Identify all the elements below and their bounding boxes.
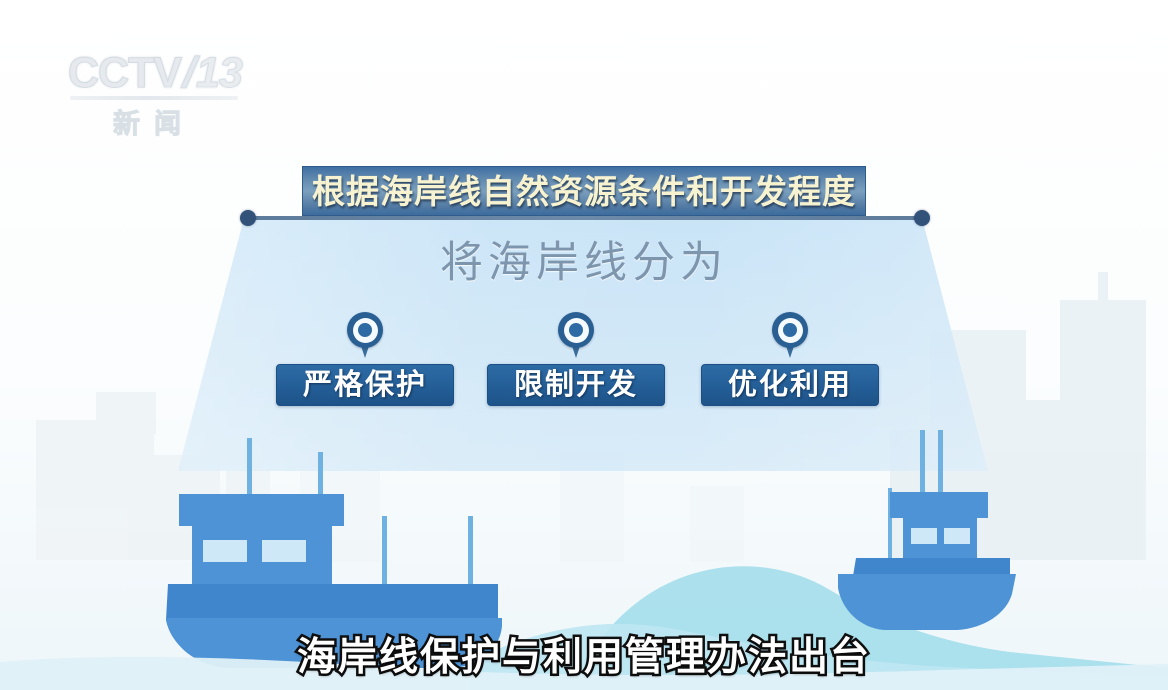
category-label-box: 限制开发	[487, 364, 665, 406]
category-group: 严格保护 限制开发 优化利用	[255, 312, 915, 432]
category-label: 限制开发	[514, 371, 638, 400]
category-label-box: 优化利用	[701, 364, 879, 406]
category-item-strict-protection: 严格保护	[265, 312, 465, 406]
lower-third-subtitle: 海岸线保护与利用管理办法出台	[0, 637, 1168, 680]
broadcast-frame: CCTV/13 新闻 根据海岸线自然资源条件和开发程度 将海岸线分为 严格保护 …	[0, 0, 1168, 690]
panel-top-rule	[246, 216, 924, 220]
category-label-box: 严格保护	[276, 364, 454, 406]
headline-text: 根据海岸线自然资源条件和开发程度	[312, 175, 856, 208]
channel-logo: CCTV/13 新闻	[68, 52, 248, 152]
headline-banner: 根据海岸线自然资源条件和开发程度	[302, 166, 866, 216]
panel-rule-dot-left	[240, 210, 256, 226]
category-label: 优化利用	[728, 371, 852, 400]
subhead-text: 将海岸线分为	[0, 228, 1168, 290]
location-pin-icon	[347, 312, 383, 348]
location-pin-icon	[772, 312, 808, 348]
channel-logo-number: 13	[196, 52, 242, 95]
channel-logo-cctv-text: CCTV	[68, 49, 181, 97]
channel-logo-subtitle: 新闻	[74, 102, 234, 141]
channel-logo-wordmark: CCTV/13	[68, 52, 248, 95]
location-pin-icon	[558, 312, 594, 348]
cargo-ship-icon	[166, 438, 502, 668]
category-item-restricted-development: 限制开发	[476, 312, 676, 406]
panel-rule-dot-right	[914, 210, 930, 226]
category-item-optimized-utilization: 优化利用	[690, 312, 890, 406]
category-label: 严格保护	[303, 371, 427, 400]
